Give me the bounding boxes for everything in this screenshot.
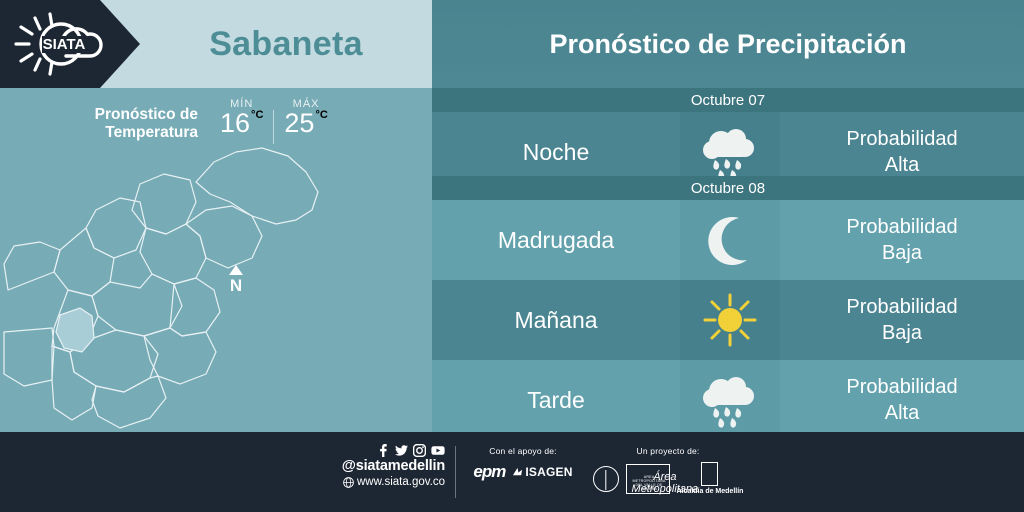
area-sublabel: AREA METROPOLITANA DEL VALLE DE ABURRA (630, 475, 669, 491)
sun-icon (702, 292, 758, 348)
weather-infographic: SIATA Sabaneta Pronóstico de Temperatura… (0, 0, 1024, 512)
forecast-row-manana[interactable]: Mañana (432, 280, 1024, 360)
period-label: Madrugada (432, 200, 680, 280)
north-arrow-icon (229, 265, 243, 275)
temperature-max-unit: °C (315, 109, 327, 121)
municipality-map (0, 140, 432, 432)
north-indicator: N (224, 265, 248, 296)
isagen-mark-icon (512, 467, 523, 478)
period-label: Tarde (432, 360, 680, 440)
sun-cloud-icon: SIATA (8, 10, 118, 78)
facebook-icon[interactable] (377, 444, 390, 457)
weather-icon-cell (680, 280, 780, 360)
probability-label: Probabilidad Alta (780, 360, 1024, 440)
social-handle[interactable]: @siatamedellin (300, 458, 445, 475)
weather-icon-cell (680, 360, 780, 440)
highlighted-municipality (56, 308, 94, 352)
period-label: Mañana (432, 280, 680, 360)
isagen-logo: ISAGEN (512, 465, 572, 479)
probability-label: Probabilidad Baja (780, 280, 1024, 360)
temperature-block: Pronóstico de Temperatura MÍN 16°C MÁX 2… (68, 98, 368, 160)
temperature-min-unit: °C (251, 109, 263, 121)
temperature-min-value: 16 (220, 108, 250, 138)
svg-text:SIATA: SIATA (43, 36, 86, 53)
date-bar-oct08: Octubre 08 (432, 176, 1024, 200)
instagram-icon[interactable] (413, 444, 426, 457)
project-group: Un proyecto de: Área Metropolitana AREA … (588, 446, 748, 495)
isagen-text: ISAGEN (525, 465, 572, 479)
website-text: www.siata.gov.co (357, 475, 445, 490)
temperature-max: MÁX 25°C (274, 98, 337, 138)
project-caption: Un proyecto de: (588, 446, 748, 456)
precipitation-title: Pronóstico de Precipitación (432, 0, 1024, 88)
temperature-values: MÍN 16°C MÁX 25°C (210, 98, 338, 144)
north-label: N (230, 276, 242, 295)
forecast-row-madrugada[interactable]: Madrugada Probabilidad Baja (432, 200, 1024, 280)
twitter-icon[interactable] (395, 444, 408, 457)
support-caption: Con el apoyo de: (468, 446, 578, 456)
temperature-min: MÍN 16°C (210, 98, 273, 138)
globe-icon (343, 477, 354, 488)
support-group: Con el apoyo de: epm ISAGEN (468, 446, 578, 482)
social-icons (300, 444, 445, 457)
temperature-max-value: 25 (284, 108, 314, 138)
weather-icon-cell (680, 200, 780, 280)
rain-cloud-icon (699, 372, 761, 428)
footer: @siatamedellin www.siata.gov.co Con el a… (0, 432, 1024, 512)
website-line[interactable]: www.siata.gov.co (300, 475, 445, 490)
city-title: Sabaneta (140, 0, 432, 88)
temperature-title: Pronóstico de Temperatura (68, 98, 198, 142)
moon-icon (705, 214, 755, 266)
footer-divider (455, 446, 456, 498)
alcaldia-mark-icon (701, 462, 718, 486)
left-panel: SIATA Sabaneta Pronóstico de Temperatura… (0, 0, 432, 432)
date-bar-oct07: Octubre 07 (432, 88, 1024, 112)
forecast-row-tarde[interactable]: Tarde (432, 360, 1024, 440)
support-logos: epm ISAGEN (468, 462, 578, 482)
forecast-rows: Noche (432, 112, 1024, 432)
project-logos: Área Metropolitana AREA METROPOLITANA DE… (588, 462, 748, 495)
youtube-icon[interactable] (431, 444, 445, 457)
amva-seal-icon (593, 466, 619, 492)
area-metropolitana-logo: Área Metropolitana AREA METROPOLITANA DE… (626, 464, 670, 494)
probability-label: Probabilidad Baja (780, 200, 1024, 280)
social-block: @siatamedellin www.siata.gov.co (300, 444, 445, 490)
epm-logo: epm (473, 462, 505, 482)
rain-cloud-icon (699, 124, 761, 180)
right-panel: Pronóstico de Precipitación Octubre 07 O… (432, 0, 1024, 432)
